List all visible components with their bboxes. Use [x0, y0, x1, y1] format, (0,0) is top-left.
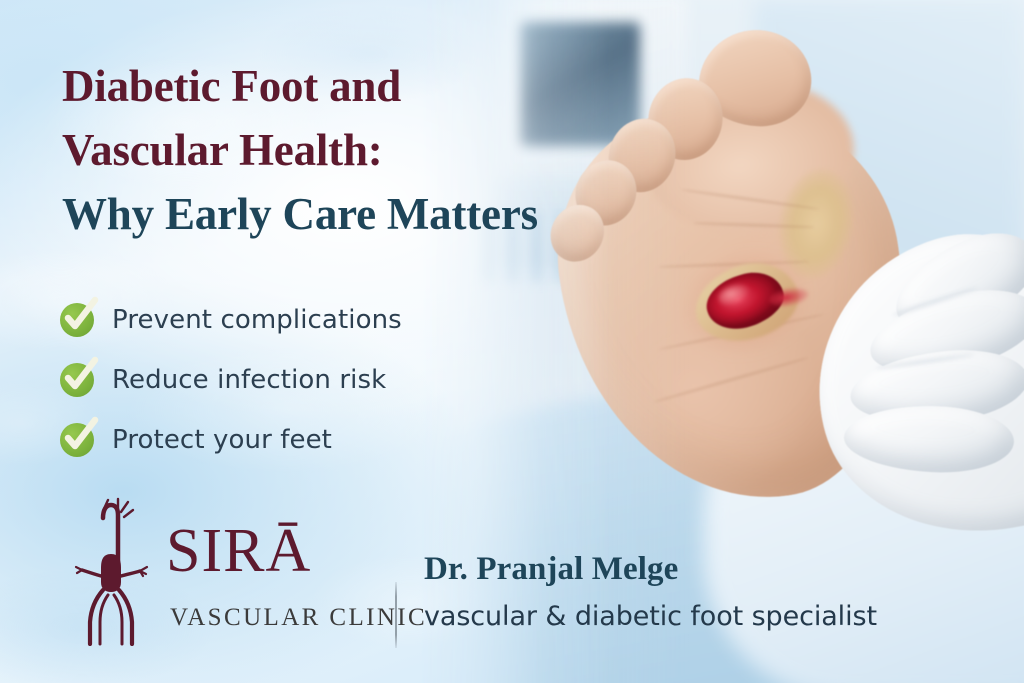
- benefit-label: Protect your feet: [112, 425, 332, 455]
- check-circle-icon: [60, 423, 94, 457]
- diabetic-foot-ulcer: [686, 251, 808, 354]
- headline-line-2: Vascular Health:: [62, 118, 662, 182]
- doctor-name: Dr. Pranjal Melge: [424, 548, 984, 590]
- headline-line-3: Why Early Care Matters: [62, 182, 662, 246]
- check-circle-icon: [60, 363, 94, 397]
- vertical-divider: [395, 582, 397, 648]
- benefit-label: Reduce infection risk: [112, 365, 386, 395]
- poster-canvas: Diabetic Foot and Vascular Health: Why E…: [0, 0, 1024, 683]
- list-item: Protect your feet: [60, 410, 500, 470]
- list-item: Prevent complications: [60, 290, 500, 350]
- clinic-wordmark: SIRĀ: [166, 520, 311, 582]
- headline-line-1: Diabetic Foot and: [62, 54, 662, 118]
- benefit-label: Prevent complications: [112, 305, 402, 335]
- clinic-tagline: VASCULAR CLINIC: [170, 604, 427, 632]
- doctor-role: vascular & diabetic foot specialist: [424, 598, 984, 636]
- page-title: Diabetic Foot and Vascular Health: Why E…: [62, 54, 662, 246]
- benefits-list: Prevent complications Reduce infection r…: [60, 290, 500, 470]
- aorta-vessel-icon: [70, 496, 152, 646]
- check-circle-icon: [60, 303, 94, 337]
- clinic-logo[interactable]: SIRĀ VASCULAR CLINIC: [62, 496, 382, 648]
- doctor-credit: Dr. Pranjal Melge vascular & diabetic fo…: [424, 548, 984, 636]
- list-item: Reduce infection risk: [60, 350, 500, 410]
